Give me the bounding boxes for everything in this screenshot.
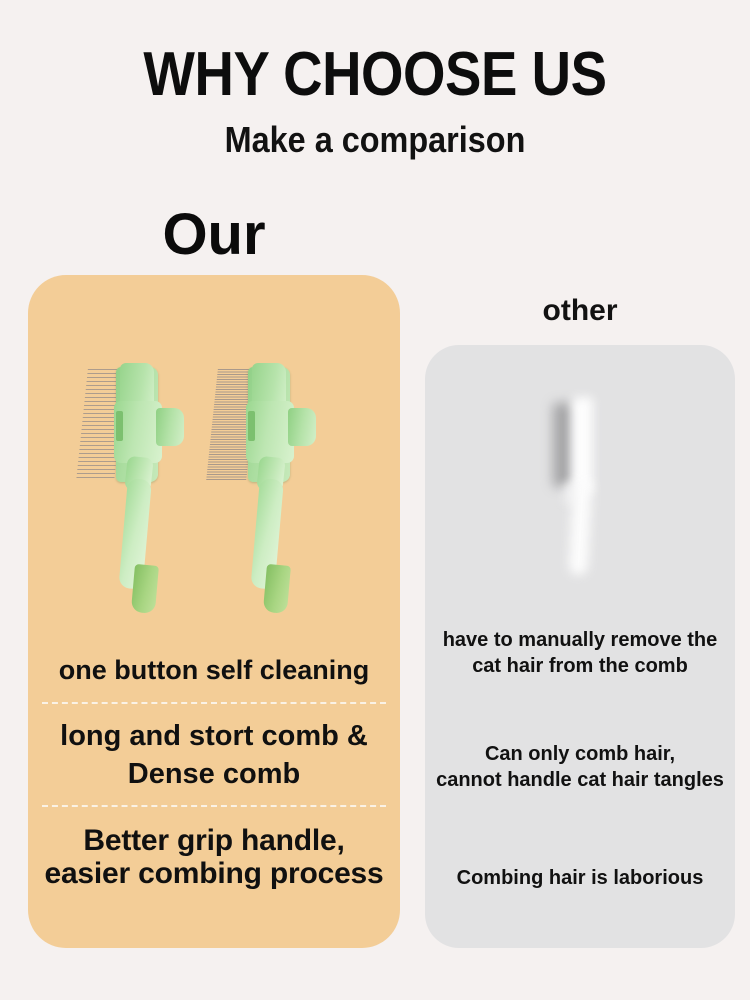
other-feature-line: have to manually remove the (433, 627, 727, 653)
other-comb-handle (569, 479, 593, 576)
our-comparison-card: one button self cleaning long and stort … (28, 275, 400, 948)
other-feature-line: cat hair from the comb (433, 653, 727, 679)
feature-divider (42, 805, 386, 807)
product-image-brush-wide (64, 353, 194, 628)
brush-self-clean-button (288, 408, 316, 446)
brush-body-slot (248, 411, 255, 441)
other-feature-list: have to manually remove the cat hair fro… (425, 627, 735, 891)
our-feature-line: one button self cleaning (34, 655, 394, 686)
other-feature-item: Combing hair is laborious (425, 793, 735, 891)
other-feature-line: Can only comb hair, (433, 741, 727, 767)
other-comparison-card: have to manually remove the cat hair fro… (425, 345, 735, 948)
other-feature-item: Can only comb hair, cannot handle cat ha… (425, 679, 735, 793)
our-feature-item: one button self cleaning (28, 643, 400, 702)
page-subtitle: Make a comparison (38, 106, 713, 158)
brush-self-clean-button (156, 408, 184, 446)
our-feature-line: Better grip handle, (34, 825, 394, 857)
page-title: WHY CHOOSE US (45, 0, 705, 106)
other-feature-item: have to manually remove the cat hair fro… (425, 627, 735, 679)
other-feature-line: cannot handle cat hair tangles (433, 767, 727, 793)
our-feature-item: long and stort comb & Dense comb (28, 704, 400, 805)
our-column-label: Our (28, 206, 400, 264)
other-feature-line: Combing hair is laborious (433, 865, 727, 891)
brush-handle-cap (131, 564, 159, 614)
brush-handle-cap (263, 564, 291, 614)
our-feature-line: easier combing process (34, 858, 394, 890)
our-feature-list: one button self cleaning long and stort … (28, 643, 400, 890)
our-product-images (28, 353, 400, 633)
other-column-label: other (425, 296, 735, 326)
our-feature-line: long and stort comb & (34, 718, 394, 756)
our-feature-line: Dense comb (34, 756, 394, 794)
feature-divider (42, 702, 386, 704)
page-header: WHY CHOOSE US Make a comparison (0, 0, 750, 158)
product-image-brush-dense (196, 353, 326, 628)
other-product-image (425, 375, 735, 605)
our-feature-item: Better grip handle, easier combing proce… (28, 807, 400, 890)
brush-body-slot (116, 411, 123, 441)
